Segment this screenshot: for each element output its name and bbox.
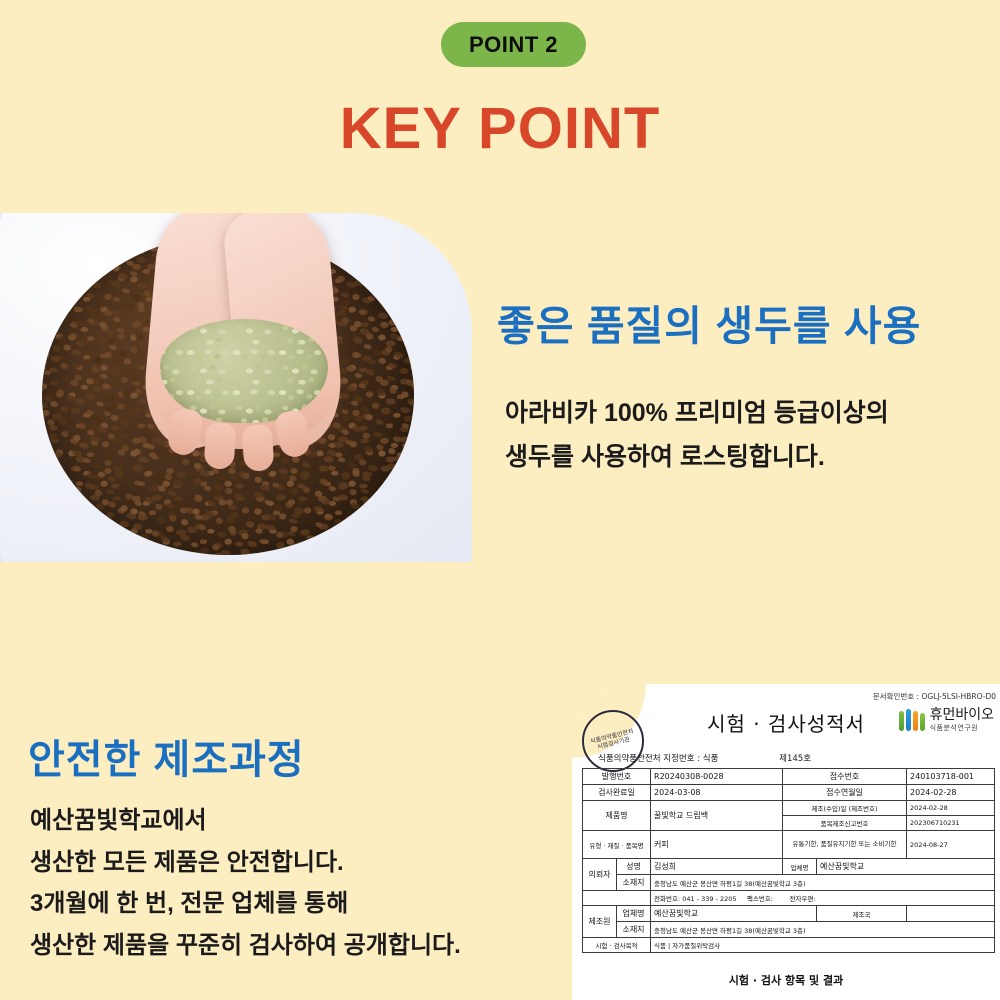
finger [241,424,274,472]
client-company-label: 업체명 [783,859,817,875]
client-email-label: 전자우편: [790,895,816,903]
point-badge: POINT 2 [441,22,586,67]
maker-country-value [907,906,995,922]
test-purpose-value: 식품 | 자가품질위탁검사 [651,938,995,953]
safety-body-line-2: 생산한 모든 제품은 안전합니다. [30,842,461,884]
certificate-doc-number: 문서확인번호 : OGLJ-5LSI-HBRO-D0 [873,691,996,702]
table-row: 의뢰자 성명 김성희 업체명 예산꿈빛학교 [583,859,995,875]
table-row: 제조원 업체명 예산꿈빛학교 제조국 [583,906,995,922]
client-name-label: 성명 [617,859,651,875]
table-row: 유형 · 재질 · 품목명 커피 유통기한, 품질유지기한 또는 소비기한 20… [583,831,995,859]
quality-body-line-2: 생두를 사용하여 로스팅합니다. [505,436,889,480]
test-complete-date-label: 검사완료일 [583,785,651,801]
receipt-number-value: 240103718-001 [907,769,995,785]
lab-logo-bars-icon [899,709,925,731]
certificate-designation: 식품의약품안전처 지정번호 : 식품 제145호 [598,752,811,764]
client-company-value: 예산꿈빛학교 [817,859,995,875]
table-row: 시험 · 검사목적 식품 | 자가품질위탁검사 [583,938,995,953]
maker-address-value: 충청남도 예산군 봉산면 하평1길 38(예산꿈빛학교 3층) [651,922,995,938]
client-fax-label: 팩스번호: [747,895,773,903]
client-name-value: 김성희 [651,859,783,875]
table-row: 소재지 충청남도 예산군 봉산면 하평1길 38(예산꿈빛학교 3층) [583,875,995,891]
point-badge-label: POINT 2 [469,32,558,58]
lab-subtitle: 식품분석연구원 [930,723,994,733]
client-phone-label: 전화번호: [654,895,680,903]
maker-company-value: 예산꿈빛학교 [651,906,817,922]
product-report-number-value: 202306710231 [907,816,995,831]
table-row: 검사완료일 2024-03-08 접수연월일 2024-02-28 [583,785,995,801]
expiry-value: 2024-08-27 [907,831,995,859]
client-contact-row: 전화번호: 041 - 339 - 2205 팩스번호: 전자우편: [651,891,995,906]
issue-number-label: 발행번호 [583,769,651,785]
green-coffee-beans [160,319,328,423]
maker-group-label: 제조원 [583,906,617,938]
quality-body: 아라비카 100% 프리미엄 등급이상의 생두를 사용하여 로스팅합니다. [505,392,889,480]
designation-label: 식품의약품안전처 지정번호 : 식품 [598,754,718,764]
manufacture-date-label: 제조(수입)일 (제조번호) [783,801,907,816]
lab-logo: 휴먼바이오 식품분석연구원 [899,708,994,733]
coffee-beans-photo [0,213,472,562]
quality-body-line-1: 아라비카 100% 프리미엄 등급이상의 [505,392,889,436]
results-heading: 시험 · 검사 항목 및 결과 [572,972,1000,988]
issue-number-value: R20240308-0028 [651,769,783,785]
table-row: 전화번호: 041 - 339 - 2205 팩스번호: 전자우편: [583,891,995,906]
designation-number: 제145호 [779,754,811,764]
client-phone-value: 041 - 339 - 2205 [682,895,736,903]
test-complete-date-value: 2024-03-08 [651,785,783,801]
product-report-number-label: 품목제조신고번호 [783,816,907,831]
safety-body-line-3: 3개월에 한 번, 전문 업체를 통해 [30,883,461,925]
lab-name: 휴먼바이오 [930,708,994,723]
page-title: KEY POINT [0,100,1000,158]
table-row: 제품명 꿀빛학교 드립백 제조(수입)일 (제조번호) 2024-02-28 [583,801,995,816]
maker-country-label: 제조국 [817,906,907,922]
quality-heading: 좋은 품질의 생두를 사용 [497,292,921,352]
test-certificate-document: 문서확인번호 : OGLJ-5LSI-HBRO-D0 시험 · 검사성적서 휴먼… [572,684,1000,1000]
product-type-label: 유형 · 재질 · 품목명 [583,831,651,859]
certificate-table: 발행번호 R20240308-0028 접수번호 240103718-001 검… [582,768,995,953]
receipt-date-label: 접수연월일 [783,785,907,801]
manufacture-date-value: 2024-02-28 [907,801,995,816]
product-name-value: 꿀빛학교 드립백 [651,801,783,831]
client-address-label: 소재지 [617,875,651,891]
expiry-label: 유통기한, 품질유지기한 또는 소비기한 [783,831,907,859]
table-row: 소재지 충청남도 예산군 봉산면 하평1길 38(예산꿈빛학교 3층) [583,922,995,938]
maker-address-label: 소재지 [617,922,651,938]
safety-body: 예산꿈빛학교에서 생산한 모든 제품은 안전합니다. 3개월에 한 번, 전문 … [30,800,461,966]
seal-text: 식품의약품안전처 시험검사기관 [583,727,643,754]
table-row: 발행번호 R20240308-0028 접수번호 240103718-001 [583,769,995,785]
maker-company-label: 업체명 [617,906,651,922]
receipt-date-value: 2024-02-28 [907,785,995,801]
client-group-label: 의뢰자 [583,859,617,891]
product-name-label: 제품명 [583,801,651,831]
product-type-value: 커피 [651,831,783,859]
finger [203,422,236,470]
receipt-number-label: 접수번호 [783,769,907,785]
safety-heading: 안전한 제조과정 [28,727,305,785]
client-address-value: 충청남도 예산군 봉산면 하평1길 38(예산꿈빛학교 3층) [651,875,995,891]
promo-page: POINT 2 KEY POINT 좋은 품질의 생두를 사용 아라비카 100… [0,0,1000,1000]
test-purpose-label: 시험 · 검사목적 [583,938,651,953]
safety-body-line-4: 생산한 제품을 꾸준히 검사하여 공개합니다. [30,925,461,967]
safety-body-line-1: 예산꿈빛학교에서 [30,800,461,842]
